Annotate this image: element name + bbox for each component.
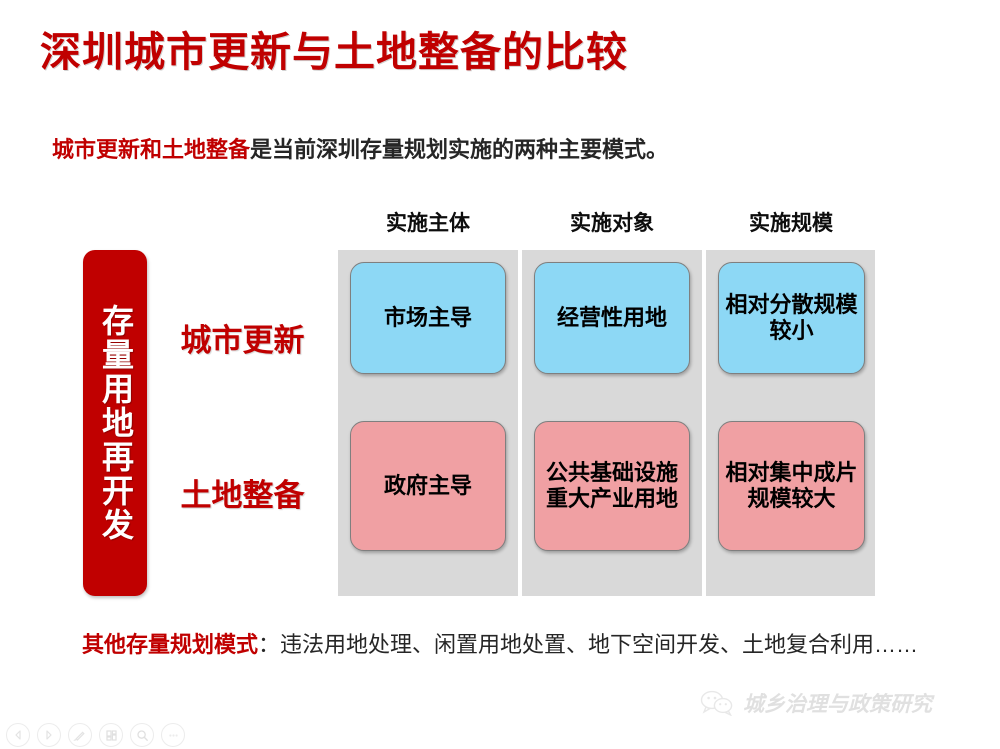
grid-icon[interactable] — [99, 723, 123, 747]
subtitle-highlight: 城市更新和土地整备 — [52, 137, 250, 162]
bottom-toolbar[interactable] — [6, 723, 185, 747]
more-icon[interactable] — [161, 723, 185, 747]
search-icon[interactable] — [130, 723, 154, 747]
row-label-urban-renewal: 城市更新 — [155, 315, 330, 360]
cell-renewal-object: 经营性用地 — [534, 262, 690, 374]
pen-icon[interactable] — [68, 723, 92, 747]
watermark-text: 城乡治理与政策研究 — [743, 688, 932, 718]
cell-renewal-subject: 市场主导 — [350, 262, 506, 374]
column-header-implementation-subject: 实施主体 — [338, 207, 518, 237]
cell-consolidation-object: 公共基础设施重大产业用地 — [534, 421, 690, 551]
footnote: 其他存量规划模式：违法用地处理、闲置用地处置、地下空间开发、土地复合利用…… — [82, 626, 942, 665]
next-icon[interactable] — [37, 723, 61, 747]
subtitle-line: 城市更新和土地整备是当前深圳存量规划实施的两种主要模式。 — [52, 132, 668, 164]
row-label-land-consolidation: 土地整备 — [155, 470, 330, 515]
footnote-rest: ：违法用地处理、闲置用地处置、地下空间开发、土地复合利用…… — [258, 632, 918, 657]
column-header-implementation-scale: 实施规模 — [706, 207, 876, 237]
cell-renewal-scale: 相对分散规模较小 — [718, 262, 865, 374]
column-header-implementation-object: 实施对象 — [522, 207, 702, 237]
vertical-category-bar: 存量用地再开发 — [83, 250, 147, 596]
page-title: 深圳城市更新与土地整备的比较 — [40, 18, 628, 78]
subtitle-rest: 是当前深圳存量规划实施的两种主要模式。 — [250, 137, 668, 162]
previous-icon[interactable] — [6, 723, 30, 747]
cell-consolidation-scale: 相对集中成片规模较大 — [718, 421, 865, 551]
watermark: 城乡治理与政策研究 — [700, 688, 932, 718]
vertical-category-label: 存量用地再开发 — [98, 304, 132, 542]
cell-consolidation-subject: 政府主导 — [350, 421, 506, 551]
footnote-highlight: 其他存量规划模式 — [82, 632, 258, 657]
wechat-icon — [700, 690, 734, 716]
slide-canvas: 深圳城市更新与土地整备的比较 城市更新和土地整备是当前深圳存量规划实施的两种主要… — [0, 0, 1000, 749]
